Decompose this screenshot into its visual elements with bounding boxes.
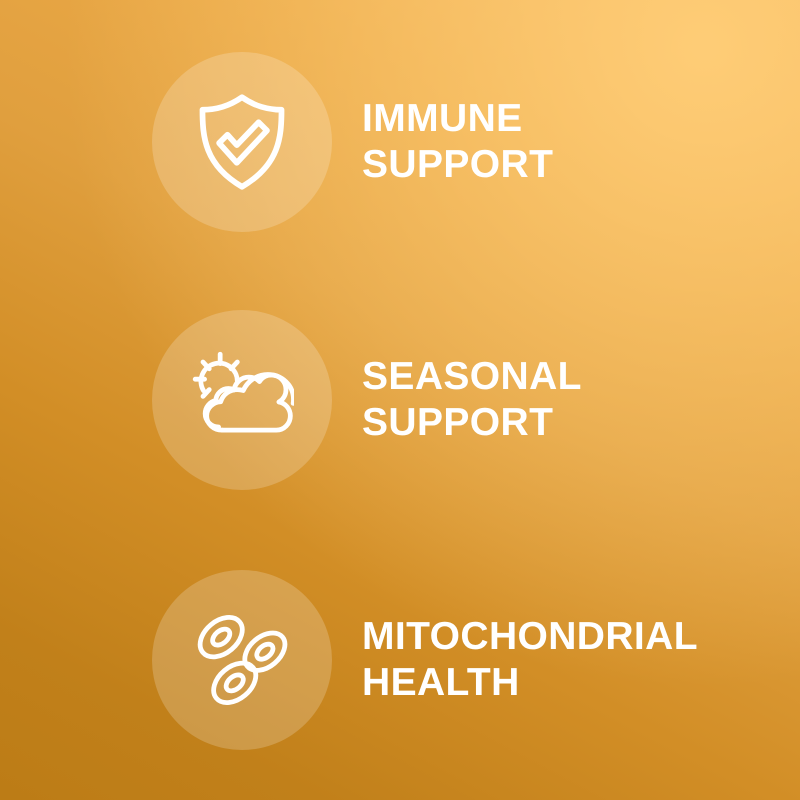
benefit-label-mitochondrial-health: MITOCHONDRIAL HEALTH xyxy=(362,614,698,706)
benefits-panel: IMMUNE SUPPORT xyxy=(0,0,800,800)
icon-disc-immune-support xyxy=(152,52,332,232)
mitochondria-cells-icon xyxy=(190,608,294,712)
benefit-label-immune-support: IMMUNE SUPPORT xyxy=(362,96,553,188)
icon-disc-mitochondrial-health xyxy=(152,570,332,750)
benefit-item-seasonal-support: SEASONAL SUPPORT xyxy=(0,310,800,490)
sun-behind-cloud-icon xyxy=(190,348,294,452)
benefit-item-mitochondrial-health: MITOCHONDRIAL HEALTH xyxy=(0,570,800,750)
benefit-item-immune-support: IMMUNE SUPPORT xyxy=(0,52,800,232)
shield-check-icon xyxy=(190,90,294,194)
icon-disc-seasonal-support xyxy=(152,310,332,490)
benefit-label-seasonal-support: SEASONAL SUPPORT xyxy=(362,354,582,446)
